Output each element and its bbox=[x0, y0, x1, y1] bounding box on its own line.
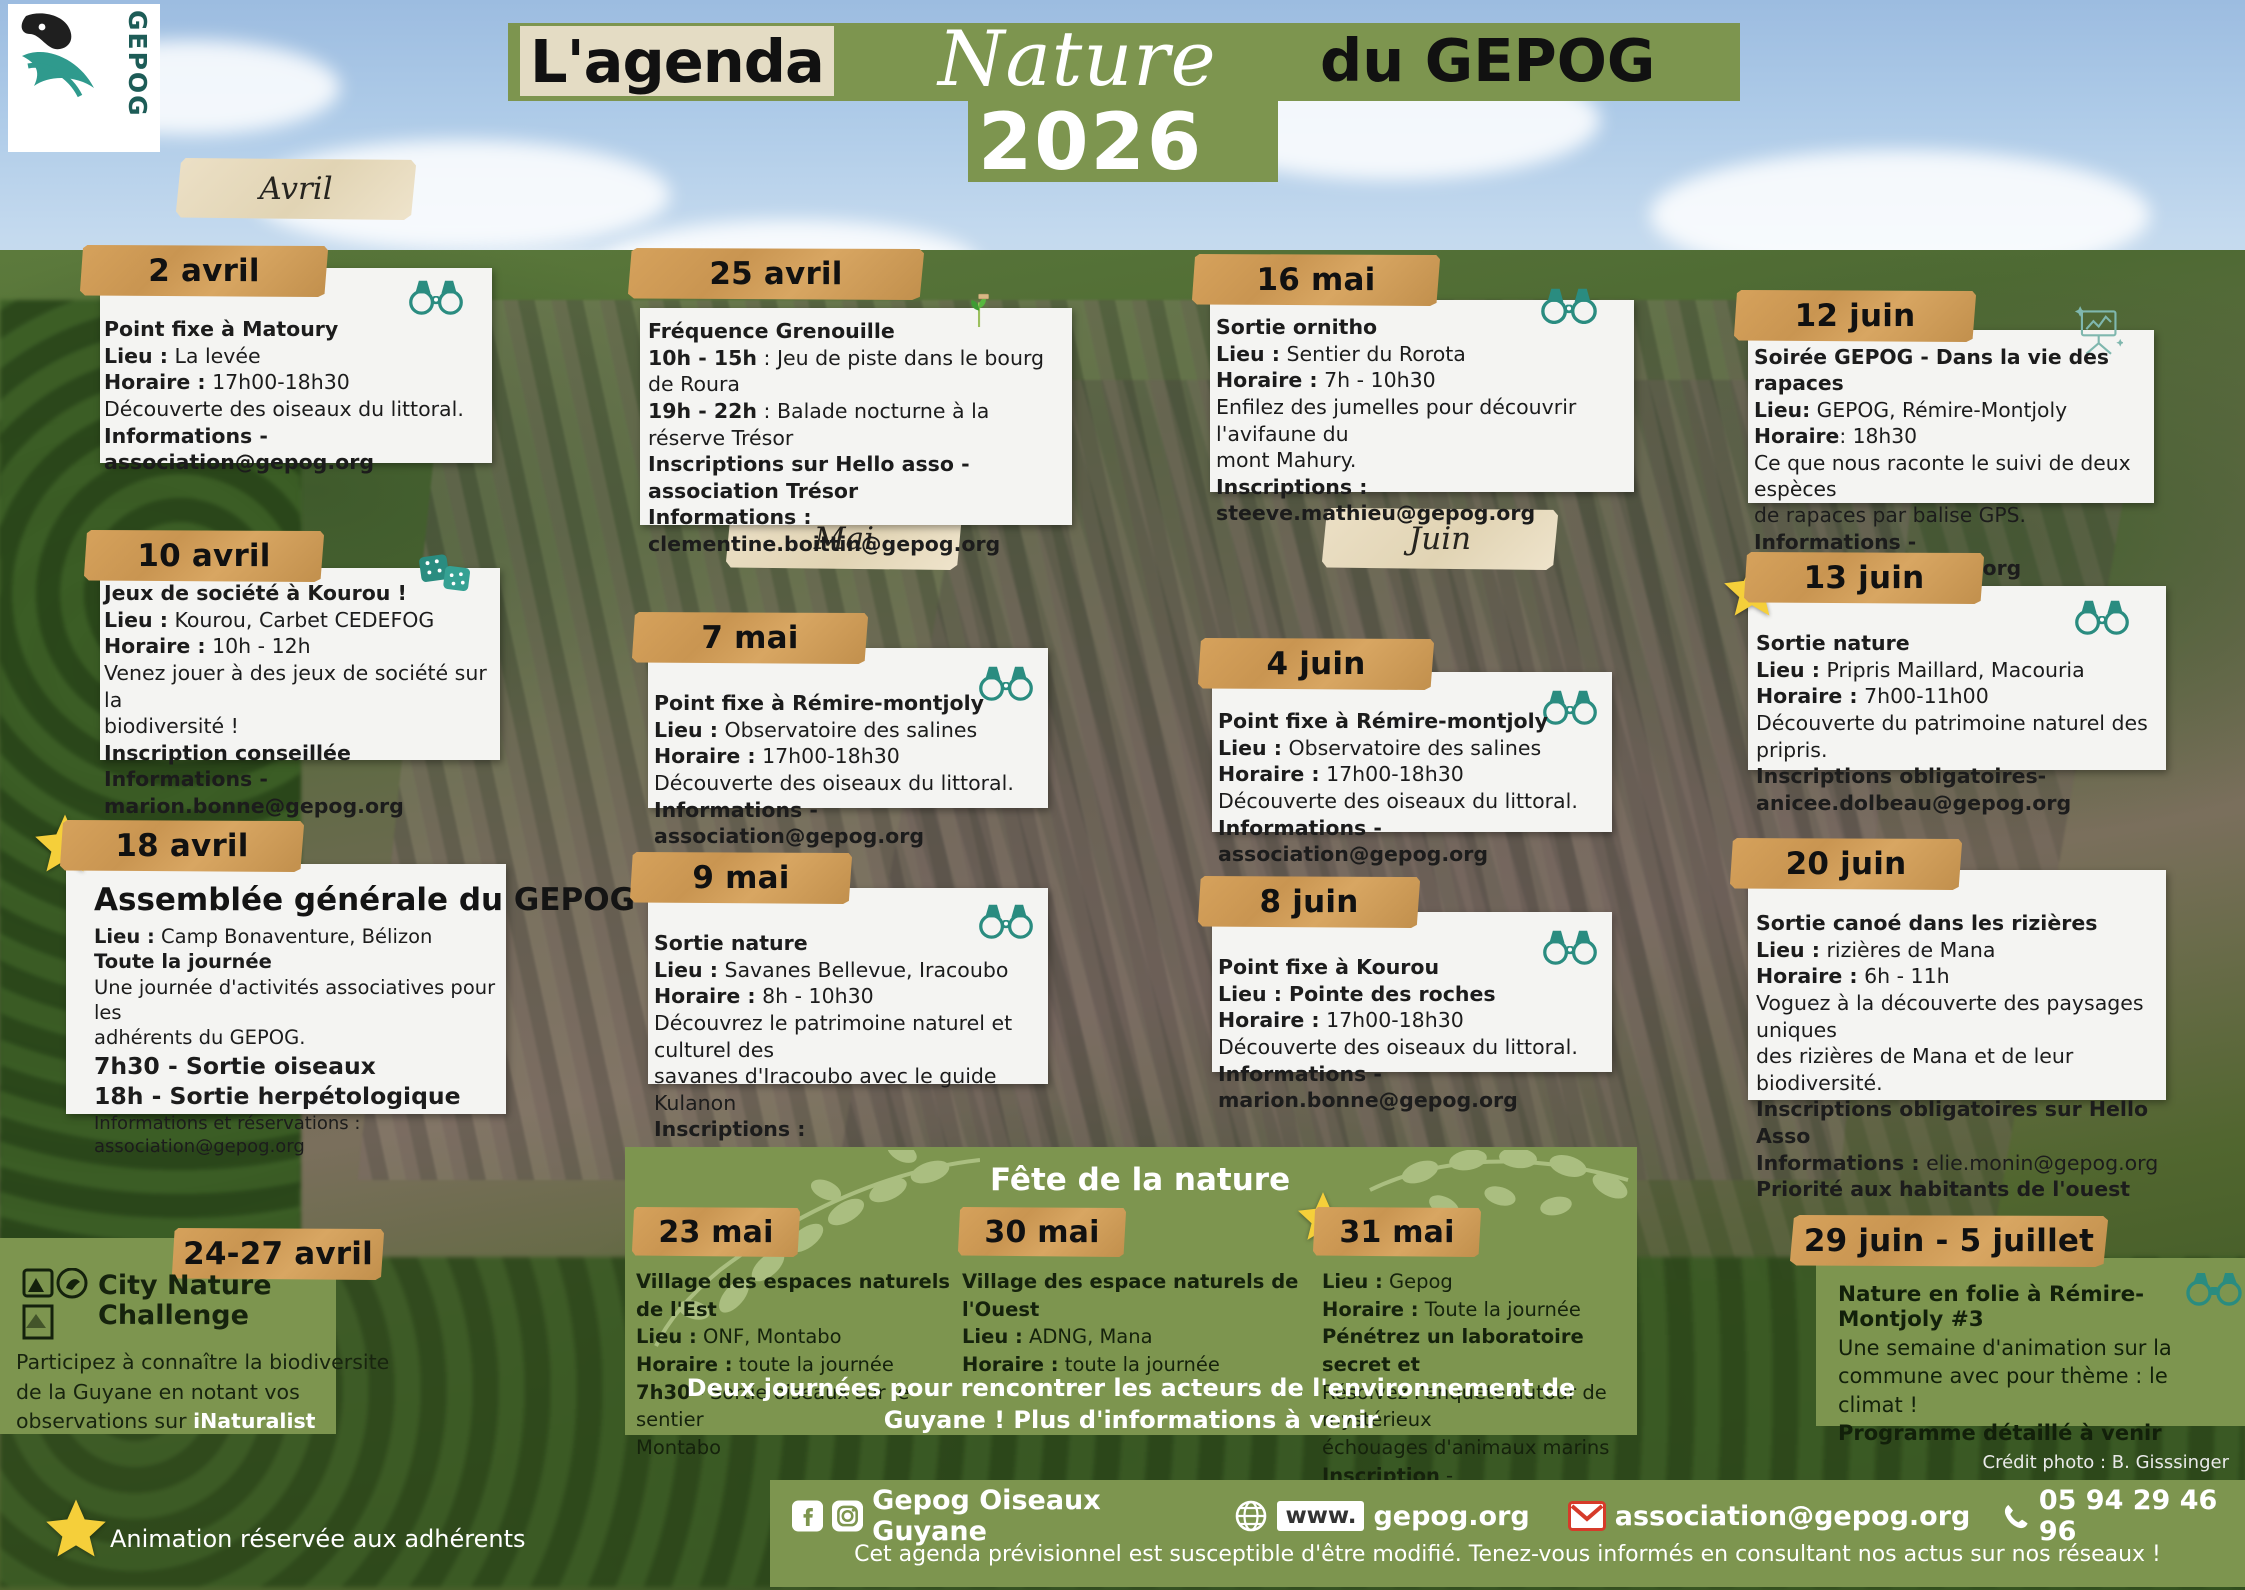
event-line-rest: 6h - 11h bbox=[1858, 964, 1950, 988]
event-line: Horaire : 17h00-18h30 bbox=[1218, 1007, 1610, 1034]
fete-line-bold: Lieu : bbox=[1322, 1270, 1383, 1293]
fete-line-rest: Montabo bbox=[636, 1436, 721, 1459]
nature-en-folie-date-tape: 29 juin - 5 juillet bbox=[1790, 1215, 2108, 1267]
adherents-note: Animation réservée aux adhérents bbox=[110, 1525, 526, 1553]
event-line-rest: : 18h30 bbox=[1839, 424, 1917, 448]
event-line: Horaire : 10h - 12h bbox=[104, 633, 496, 660]
event-line-bold: Point fixe à Rémire-montjoly bbox=[1218, 709, 1548, 733]
event-title: Assemblée générale du GEPOG bbox=[94, 882, 635, 918]
event-line: mont Mahury. bbox=[1216, 447, 1632, 474]
event-line: Horaire : 7h - 10h30 bbox=[1216, 367, 1632, 394]
event-line-bold: Point fixe à Matoury bbox=[104, 317, 338, 341]
event-line-rest: Venez jouer à des jeux de société sur la bbox=[104, 661, 487, 712]
binoculars-icon bbox=[408, 278, 464, 319]
event-line: Informations et réservations : associati… bbox=[94, 1112, 522, 1159]
event-line: Horaire : 6h - 11h bbox=[1756, 963, 2166, 990]
footer-phone-text: 05 94 29 46 96 bbox=[2039, 1485, 2245, 1547]
fete-line-rest: ONF, Montabo bbox=[697, 1325, 842, 1348]
event-line: adhérents du GEPOG. bbox=[94, 1025, 522, 1050]
event-line-bold: Informations - marion.bonne@gepog.org bbox=[1218, 1062, 1518, 1113]
event-line: Horaire : 17h00-18h30 bbox=[104, 369, 484, 396]
fete-line-bold: Pénétrez un laboratoire secret et bbox=[1322, 1325, 1584, 1376]
inaturalist-link[interactable]: iNaturalist bbox=[193, 1409, 315, 1433]
fete-line: Pénétrez un laboratoire secret et bbox=[1322, 1323, 1622, 1378]
fete-line-bold: Village des espace naturels de l'Ouest bbox=[962, 1270, 1298, 1321]
event-line: anicee.dolbeau@gepog.org bbox=[1756, 790, 2166, 817]
event-line: Inscriptions obligatoires sur Hello Asso bbox=[1756, 1096, 2166, 1149]
event-line: Lieu : Sentier du Rorota bbox=[1216, 341, 1632, 368]
event-line-bold: Informations - association@gepog.org bbox=[1218, 816, 1488, 867]
fete-line-bold: Village des espaces naturels de l'Est bbox=[636, 1270, 950, 1321]
event-line: Horaire : 8h - 10h30 bbox=[654, 983, 1046, 1010]
event-line-bold: Inscriptions sur Hello asso - bbox=[648, 452, 970, 476]
event-line: Sortie nature bbox=[654, 930, 1046, 957]
event-line-rest: La levée bbox=[168, 344, 261, 368]
event-line-rest: 10h - 12h bbox=[206, 634, 311, 658]
fete-line: Village des espaces naturels de l'Est bbox=[636, 1268, 966, 1323]
event-line: Informations - marion.bonne@gepog.org bbox=[1218, 1061, 1610, 1114]
event-line: Lieu: GEPOG, Rémire-Montjoly bbox=[1754, 397, 2154, 423]
event-body: Lieu : Camp Bonaventure, BélizonToute la… bbox=[94, 924, 522, 1159]
event-line-rest: biodiversité ! bbox=[104, 714, 239, 738]
event-line: 19h - 22h : Balade nocturne à la réserve… bbox=[648, 398, 1068, 451]
event-line: Point fixe à Rémire-montjoly bbox=[1218, 708, 1610, 735]
header-agenda-text: L'agenda bbox=[530, 27, 824, 96]
event-body: Point fixe à MatouryLieu : La levéeHorai… bbox=[104, 316, 484, 476]
event-line-bold: Lieu : bbox=[104, 608, 168, 632]
fete-line-rest: Gepog bbox=[1383, 1270, 1453, 1293]
event-line: Fréquence Grenouille bbox=[648, 318, 1068, 345]
event-line-bold: Inscriptions : steeve.mathieu@gepog.org bbox=[1216, 475, 1535, 526]
event-line: Inscriptions obligatoires- bbox=[1756, 763, 2166, 790]
event-line-bold: Soirée GEPOG - Dans la vie des rapaces bbox=[1754, 345, 2109, 395]
footer-disclaimer: Cet agenda prévisionnel est susceptible … bbox=[770, 1542, 2245, 1567]
facebook-icon[interactable] bbox=[792, 1499, 823, 1533]
event-line-rest: Découvrez le patrimoine naturel et cultu… bbox=[654, 1011, 1012, 1062]
phone-icon bbox=[2002, 1501, 2029, 1531]
instagram-icon[interactable] bbox=[832, 1499, 863, 1533]
event-line: Horaire : 17h00-18h30 bbox=[654, 743, 1046, 770]
event-line-rest: Observatoire des salines bbox=[718, 718, 977, 742]
event-date-tape: 8 juin bbox=[1198, 876, 1420, 928]
footer-contact-row: Gepog Oiseaux Guyane www. gepog.org asso… bbox=[770, 1490, 2245, 1542]
city-nature-challenge-logo-icon bbox=[22, 1268, 92, 1342]
event-line-bold: Fréquence Grenouille bbox=[648, 319, 895, 343]
event-line-bold: Sortie ornitho bbox=[1216, 315, 1377, 339]
event-line: Découverte des oiseaux du littoral. bbox=[104, 396, 484, 423]
event-line: Horaire : 17h00-18h30 bbox=[1218, 761, 1610, 788]
event-line-bold: Lieu : bbox=[1218, 736, 1282, 760]
event-line-bold: 18h - Sortie herpétologique bbox=[94, 1082, 461, 1110]
event-line: Jeux de société à Kourou ! bbox=[104, 580, 496, 607]
event-line: Point fixe à Kourou bbox=[1218, 954, 1610, 981]
event-line: Sortie canoé dans les rizières bbox=[1756, 910, 2166, 937]
footer-www-label: www. bbox=[1277, 1501, 1364, 1531]
event-line: Sortie nature bbox=[1756, 630, 2166, 657]
event-line: Lieu : La levée bbox=[104, 343, 484, 370]
event-date-tape: 20 juin bbox=[1730, 838, 1962, 890]
nature-en-folie-line1: Une semaine d'animation sur la bbox=[1838, 1334, 2238, 1362]
cnc-text-line2: de la Guyane en notant vos bbox=[16, 1378, 389, 1408]
event-line-rest: Ce que nous raconte le suivi de deux esp… bbox=[1754, 451, 2131, 501]
event-line: Lieu : Observatoire des salines bbox=[1218, 735, 1610, 762]
event-line-bold: Horaire : bbox=[1756, 964, 1858, 988]
event-date-tape: 16 mai bbox=[1192, 254, 1440, 306]
cnc-logo-line1: City Nature bbox=[98, 1272, 272, 1300]
event-line-rest: Sentier du Rorota bbox=[1280, 342, 1466, 366]
fete-line-bold: Horaire : bbox=[1322, 1298, 1419, 1321]
event-date-tape: 18 avril bbox=[60, 820, 304, 872]
event-line-bold: Lieu : bbox=[1756, 658, 1820, 682]
event-line-rest: elie.monin@gepog.org bbox=[1920, 1151, 2159, 1175]
event-line-bold: Lieu : bbox=[104, 344, 168, 368]
event-line: Lieu : Kourou, Carbet CEDEFOG bbox=[104, 607, 496, 634]
fete-date-tape: 31 mai bbox=[1313, 1207, 1481, 1257]
event-date-tape: 10 avril bbox=[84, 530, 324, 582]
event-line: Voguez à la découverte des paysages uniq… bbox=[1756, 990, 2166, 1043]
fete-line: Lieu : ONF, Montabo bbox=[636, 1323, 966, 1351]
event-line-rest: Une journée d'activités associatives pou… bbox=[94, 976, 495, 1024]
fete-footnote: Deux journées pour rencontrer les acteur… bbox=[645, 1372, 1617, 1437]
header-agenda-highlight: L'agenda bbox=[520, 26, 834, 96]
event-line-rest: 17h00-18h30 bbox=[1320, 1008, 1464, 1032]
event-line-rest: Savanes Bellevue, Iracoubo bbox=[718, 958, 1008, 982]
fete-line: Horaire : Toute la journée bbox=[1322, 1296, 1622, 1324]
event-line-rest: mont Mahury. bbox=[1216, 448, 1356, 472]
event-line-rest: 17h00-18h30 bbox=[206, 370, 350, 394]
event-body: Point fixe à KourouLieu : Pointe des roc… bbox=[1218, 954, 1610, 1114]
cnc-logo-line2: Challenge bbox=[98, 1302, 249, 1330]
event-line: Informations - association@gepog.org bbox=[654, 797, 1046, 850]
event-line-bold: Horaire : bbox=[654, 984, 756, 1008]
event-line: Horaire : 7h00-11h00 bbox=[1756, 683, 2166, 710]
event-line: Découverte du patrimoine naturel des pri… bbox=[1756, 710, 2166, 763]
fete-de-la-nature-title: Fête de la nature bbox=[990, 1162, 1290, 1198]
event-line-bold: Inscriptions obligatoires sur Hello Asso bbox=[1756, 1097, 2148, 1148]
cnc-text-line3a: observations sur bbox=[16, 1409, 193, 1433]
fete-line-bold: Lieu : bbox=[962, 1325, 1023, 1348]
fete-line-rest: Toute la journée bbox=[1419, 1298, 1581, 1321]
globe-icon bbox=[1234, 1499, 1268, 1533]
event-line-rest: Découverte des oiseaux du littoral. bbox=[654, 771, 1014, 795]
month-tape-avril: Avril bbox=[176, 158, 416, 220]
event-line-rest: Kourou, Carbet CEDEFOG bbox=[168, 608, 434, 632]
event-line-bold: Informations : clementine.boittin@gepog.… bbox=[648, 505, 1000, 556]
event-line: Inscriptions sur Hello asso - bbox=[648, 451, 1068, 478]
cnc-text-line3: observations sur iNaturalist bbox=[16, 1407, 389, 1437]
event-line-rest: Pripris Maillard, Macouria bbox=[1820, 658, 2085, 682]
event-line: Lieu : Savanes Bellevue, Iracoubo bbox=[654, 957, 1046, 984]
star-icon bbox=[45, 1498, 107, 1558]
event-line: 10h - 15h : Jeu de piste dans le bourg d… bbox=[648, 345, 1068, 398]
event-date-tape: 13 juin bbox=[1744, 552, 1984, 604]
event-body: Sortie natureLieu : Pripris Maillard, Ma… bbox=[1756, 630, 2166, 816]
fete-date-tape: 23 mai bbox=[632, 1207, 800, 1257]
nature-en-folie-line3: Programme détaillé à venir bbox=[1838, 1419, 2238, 1447]
fete-line-rest: ADNG, Mana bbox=[1023, 1325, 1153, 1348]
event-line: Lieu : Pointe des roches bbox=[1218, 981, 1610, 1008]
event-body: Sortie canoé dans les rizièresLieu : riz… bbox=[1756, 910, 2166, 1203]
event-line: des rizières de Mana et de leur biodiver… bbox=[1756, 1043, 2166, 1096]
event-line: Priorité aux habitants de l'ouest bbox=[1756, 1176, 2166, 1203]
nature-en-folie-title: Nature en folie à Rémire-Montjoly #3 bbox=[1838, 1282, 2238, 1332]
event-line-bold: Horaire : bbox=[104, 370, 206, 394]
event-line-rest: de rapaces par balise GPS. bbox=[1754, 503, 2026, 527]
photo-credit: Crédit photo : B. Gisssinger bbox=[1983, 1452, 2229, 1473]
event-date-tape: 12 juin bbox=[1734, 290, 1976, 342]
event-line: Inscription conseillée bbox=[104, 740, 496, 767]
event-line-bold: Horaire : bbox=[1218, 1008, 1320, 1032]
event-line-bold: association Trésor bbox=[648, 479, 858, 503]
fete-line: Lieu : Gepog bbox=[1322, 1268, 1622, 1296]
event-line-bold: Informations - association@gepog.org bbox=[104, 424, 374, 475]
footer-website[interactable]: www. gepog.org bbox=[1234, 1499, 1529, 1533]
event-line-rest: 7h - 10h30 bbox=[1318, 368, 1436, 392]
fete-card-body: Village des espace naturels de l'OuestLi… bbox=[962, 1268, 1302, 1379]
event-line: Lieu : Pripris Maillard, Macouria bbox=[1756, 657, 2166, 684]
event-line: Point fixe à Matoury bbox=[104, 316, 484, 343]
footer-website-text: gepog.org bbox=[1373, 1501, 1529, 1532]
event-line: 18h - Sortie herpétologique bbox=[94, 1081, 522, 1112]
event-line: de rapaces par balise GPS. bbox=[1754, 502, 2154, 528]
event-line-rest: des rizières de Mana et de leur biodiver… bbox=[1756, 1044, 2073, 1095]
event-line: Lieu : rizières de Mana bbox=[1756, 937, 2166, 964]
event-date-tape: 25 avril bbox=[628, 248, 924, 300]
event-line-rest: 8h - 10h30 bbox=[756, 984, 874, 1008]
event-line-bold: Point fixe à Kourou bbox=[1218, 955, 1439, 979]
event-line: Lieu : Observatoire des salines bbox=[654, 717, 1046, 744]
event-date-tape: 2 avril bbox=[80, 245, 328, 297]
event-line: Enfilez des jumelles pour découvrir l'av… bbox=[1216, 394, 1632, 447]
event-line: Point fixe à Rémire-montjoly bbox=[654, 690, 1046, 717]
event-line-bold: 7h30 - Sortie oiseaux bbox=[94, 1052, 376, 1080]
event-line-rest: Informations et réservations : associati… bbox=[94, 1113, 360, 1157]
event-body: Jeux de société à Kourou !Lieu : Kourou,… bbox=[104, 580, 496, 820]
footer-social-label: Gepog Oiseaux Guyane bbox=[872, 1485, 1194, 1547]
footer-phone[interactable]: 05 94 29 46 96 bbox=[2002, 1485, 2245, 1547]
event-line-bold: Jeux de société à Kourou ! bbox=[104, 581, 407, 605]
event-line-bold: Horaire bbox=[1754, 424, 1839, 448]
event-line: Ce que nous raconte le suivi de deux esp… bbox=[1754, 450, 2154, 503]
event-line: Inscriptions : steeve.mathieu@gepog.org bbox=[1216, 474, 1632, 527]
event-line-bold: 19h - 22h bbox=[648, 399, 757, 423]
event-line-bold: Sortie canoé dans les rizières bbox=[1756, 911, 2097, 935]
event-line: Lieu : Camp Bonaventure, Bélizon bbox=[94, 924, 522, 949]
event-line-bold: Priorité aux habitants de l'ouest bbox=[1756, 1177, 2130, 1201]
event-line: Sortie ornitho bbox=[1216, 314, 1632, 341]
event-date-tape: 4 juin bbox=[1198, 638, 1434, 690]
event-date-tape: 9 mai bbox=[630, 852, 852, 904]
nature-en-folie-line2: commune avec pour thème : le climat ! bbox=[1838, 1362, 2238, 1419]
month-label-avril: Avril bbox=[259, 171, 332, 207]
header-year: 2026 bbox=[978, 98, 1203, 188]
event-line-bold: Toute la journée bbox=[94, 950, 272, 973]
event-line: Informations : elie.monin@gepog.org bbox=[1756, 1150, 2166, 1177]
event-line-bold: Informations - association@gepog.org bbox=[654, 798, 924, 849]
event-line: Horaire: 18h30 bbox=[1754, 423, 2154, 449]
event-body: Fréquence Grenouille10h - 15h : Jeu de p… bbox=[648, 318, 1068, 558]
event-line: Découverte des oiseaux du littoral. bbox=[654, 770, 1046, 797]
fete-line-rest: échouages d'animaux marins bbox=[1322, 1436, 1609, 1459]
event-line-bold: Lieu : bbox=[654, 958, 718, 982]
event-line: Découverte des oiseaux du littoral. bbox=[1218, 1034, 1610, 1061]
fete-line: Village des espace naturels de l'Ouest bbox=[962, 1268, 1302, 1323]
event-line: Toute la journée bbox=[94, 949, 522, 974]
event-line-rest: 17h00-18h30 bbox=[1320, 762, 1464, 786]
event-line-rest: adhérents du GEPOG. bbox=[94, 1026, 305, 1049]
event-line-bold: Inscriptions obligatoires- bbox=[1756, 764, 2046, 788]
event-body: Sortie ornithoLieu : Sentier du RorotaHo… bbox=[1216, 314, 1632, 527]
event-line-bold: Lieu : bbox=[94, 925, 155, 948]
event-line-rest: rizières de Mana bbox=[1820, 938, 1995, 962]
event-line-bold: Horaire : bbox=[104, 634, 206, 658]
event-line-bold: Sortie nature bbox=[1756, 631, 1910, 655]
event-line-rest: Découverte des oiseaux du littoral. bbox=[1218, 789, 1578, 813]
fete-date-tape: 30 mai bbox=[958, 1207, 1126, 1257]
footer-email[interactable]: association@gepog.org bbox=[1568, 1501, 1971, 1532]
event-line: Informations - marion.bonne@gepog.org bbox=[104, 766, 496, 819]
nature-en-folie-body: Nature en folie à Rémire-Montjoly #3 Une… bbox=[1838, 1282, 2238, 1447]
event-line-rest: Voguez à la découverte des paysages uniq… bbox=[1756, 991, 2144, 1042]
event-line-bold: Inscription conseillée bbox=[104, 741, 351, 765]
event-line-bold: Lieu : bbox=[654, 718, 718, 742]
cnc-description: Participez à connaître la biodiversite d… bbox=[16, 1348, 389, 1437]
header-nature-text: Nature bbox=[938, 14, 1217, 103]
event-line-bold: Lieu : Pointe des roches bbox=[1218, 982, 1496, 1006]
logo-wordmark: GEPOG bbox=[123, 10, 152, 118]
cnc-text-line1: Participez à connaître la biodiversite bbox=[16, 1348, 389, 1378]
fete-line: Lieu : ADNG, Mana bbox=[962, 1323, 1302, 1351]
event-body: Point fixe à Rémire-montjolyLieu : Obser… bbox=[654, 690, 1046, 850]
event-line-rest: Découverte des oiseaux du littoral. bbox=[1218, 1035, 1578, 1059]
event-line: Venez jouer à des jeux de société sur la bbox=[104, 660, 496, 713]
event-line-bold: Sortie nature bbox=[654, 931, 808, 955]
event-line: savanes d'Iracoubo avec le guide Kulanon bbox=[654, 1063, 1046, 1116]
event-line-bold: Point fixe à Rémire-montjoly bbox=[654, 691, 984, 715]
event-line-rest: Découverte des oiseaux du littoral. bbox=[104, 397, 464, 421]
event-line-rest: Camp Bonaventure, Bélizon bbox=[155, 925, 433, 948]
event-line-bold: Lieu : bbox=[1756, 938, 1820, 962]
fete-line-bold: Lieu : bbox=[636, 1325, 697, 1348]
event-line: association Trésor bbox=[648, 478, 1068, 505]
event-line-bold: Lieu : bbox=[1216, 342, 1280, 366]
event-body: Soirée GEPOG - Dans la vie des rapacesLi… bbox=[1754, 344, 2154, 581]
event-line-bold: 10h - 15h bbox=[648, 346, 757, 370]
fete-line: Montabo bbox=[636, 1434, 966, 1462]
event-line-bold: Horaire : bbox=[1218, 762, 1320, 786]
event-line-bold: Horaire : bbox=[1756, 684, 1858, 708]
event-line-bold: anicee.dolbeau@gepog.org bbox=[1756, 791, 2071, 815]
fete-line: échouages d'animaux marins bbox=[1322, 1434, 1622, 1462]
event-line: 7h30 - Sortie oiseaux bbox=[94, 1051, 522, 1082]
event-line: Découvrez le patrimoine naturel et cultu… bbox=[654, 1010, 1046, 1063]
gepog-logo: GEPOG bbox=[8, 4, 160, 152]
event-line: Une journée d'activités associatives pou… bbox=[94, 975, 522, 1026]
event-line-bold: Horaire : bbox=[654, 744, 756, 768]
event-line: Informations : clementine.boittin@gepog.… bbox=[648, 504, 1068, 557]
event-body: Point fixe à Rémire-montjolyLieu : Obser… bbox=[1218, 708, 1610, 868]
event-line-rest: Découverte du patrimoine naturel des pri… bbox=[1756, 711, 2148, 762]
event-line-bold: Lieu: bbox=[1754, 398, 1810, 422]
event-line-bold: Informations : bbox=[1756, 1151, 1920, 1175]
event-line-rest: 17h00-18h30 bbox=[756, 744, 900, 768]
binoculars-icon bbox=[408, 278, 464, 315]
header-du-gepog-text: du GEPOG bbox=[1320, 26, 1655, 95]
mail-icon bbox=[1568, 1501, 1606, 1531]
event-date-tape: 7 mai bbox=[632, 612, 868, 664]
event-line: Soirée GEPOG - Dans la vie des rapaces bbox=[1754, 344, 2154, 397]
gepog-bird-logo-icon bbox=[8, 4, 113, 144]
footer-bar: Gepog Oiseaux Guyane www. gepog.org asso… bbox=[770, 1480, 2245, 1587]
event-line: Découverte des oiseaux du littoral. bbox=[1218, 788, 1610, 815]
event-line-rest: Enfilez des jumelles pour découvrir l'av… bbox=[1216, 395, 1576, 446]
event-line-rest: Observatoire des salines bbox=[1282, 736, 1541, 760]
event-line-rest: GEPOG, Rémire-Montjoly bbox=[1810, 398, 2067, 422]
event-line-bold: Informations - marion.bonne@gepog.org bbox=[104, 767, 404, 818]
event-line-bold: Horaire : bbox=[1216, 368, 1318, 392]
event-line-rest: 7h00-11h00 bbox=[1858, 684, 1989, 708]
event-line: Informations - association@gepog.org bbox=[1218, 815, 1610, 868]
event-line: Informations - association@gepog.org bbox=[104, 423, 484, 476]
footer-email-text: association@gepog.org bbox=[1615, 1501, 1971, 1532]
footer-social[interactable]: Gepog Oiseaux Guyane bbox=[792, 1485, 1194, 1547]
event-line: biodiversité ! bbox=[104, 713, 496, 740]
event-line-rest: savanes d'Iracoubo avec le guide Kulanon bbox=[654, 1064, 997, 1115]
